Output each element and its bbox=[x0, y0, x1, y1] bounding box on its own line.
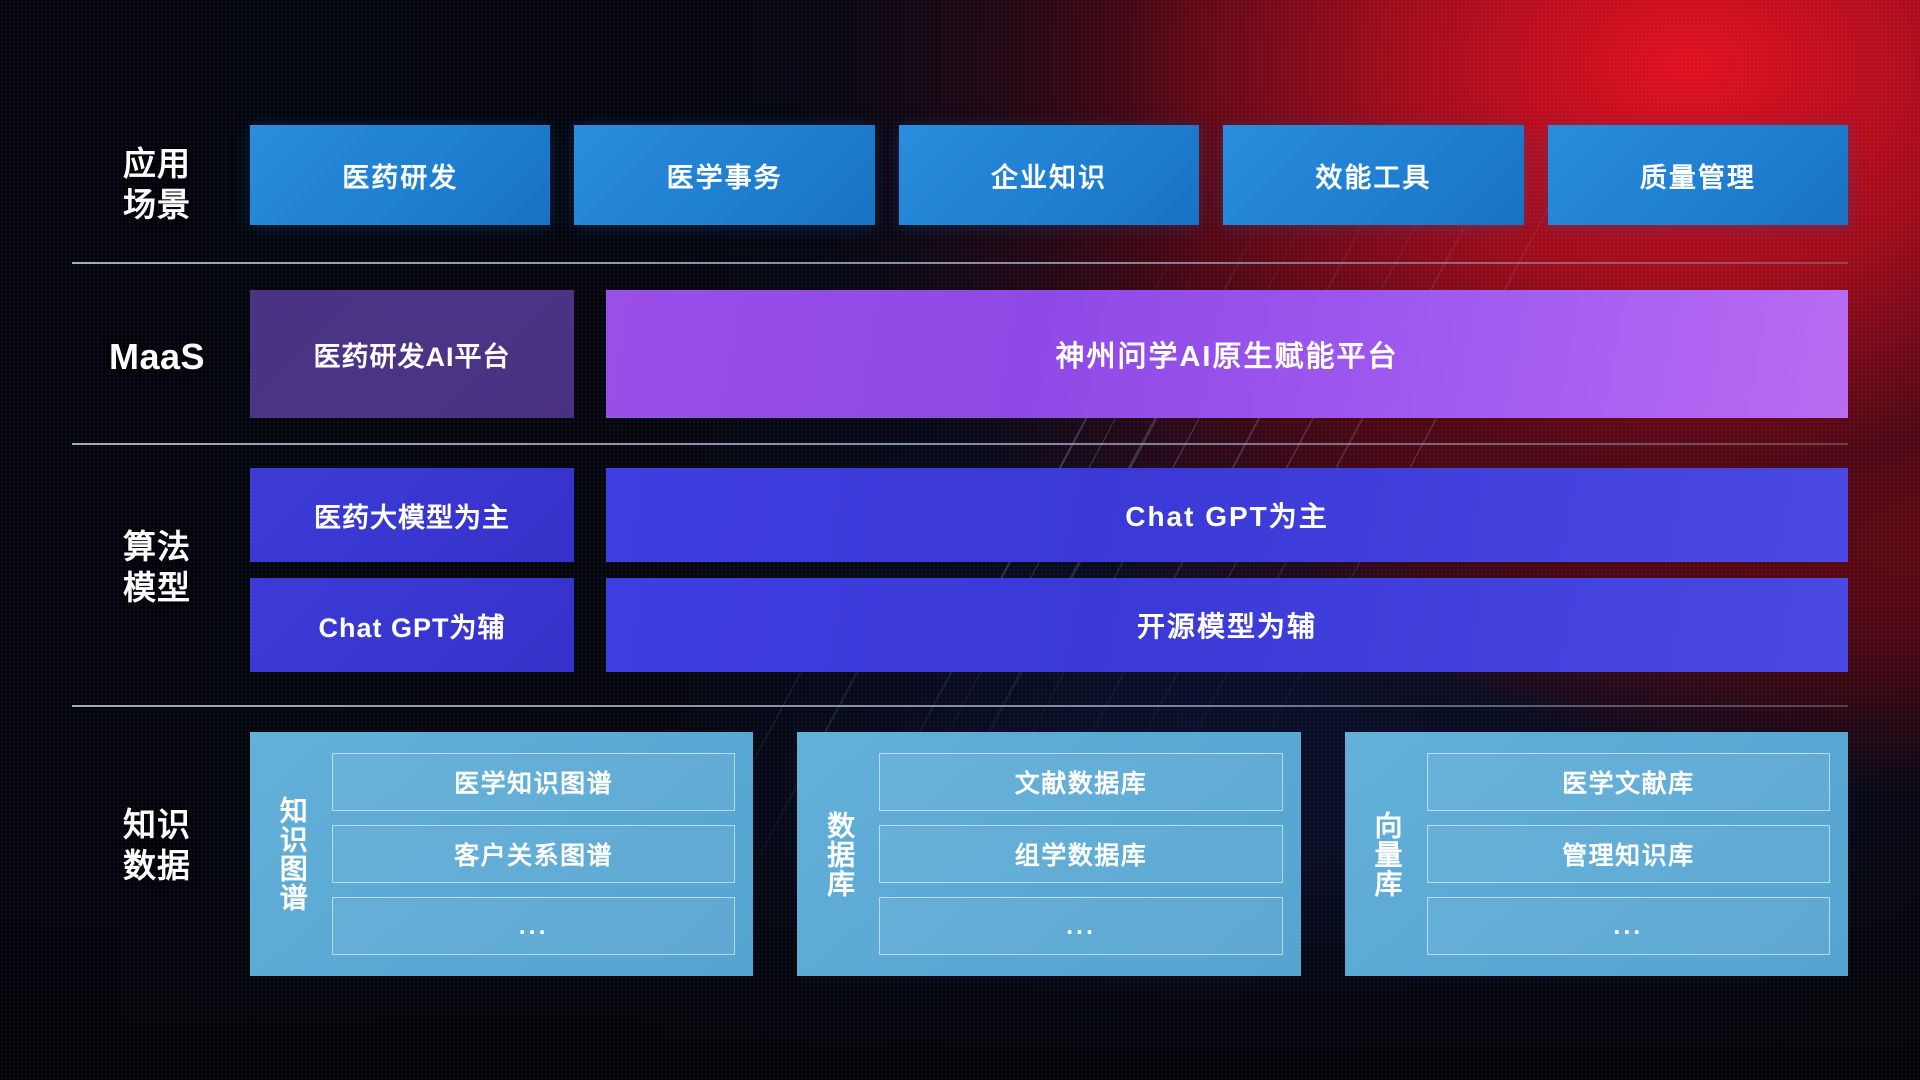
application-row-label: 应用 场景 bbox=[72, 143, 242, 226]
algo-box-chatgpt-primary[interactable]: Chat GPT为主 bbox=[606, 468, 1848, 562]
knowledge-item-medical-literature-lib[interactable]: 医学文献库 bbox=[1427, 753, 1830, 811]
app-box-yixueshiwu[interactable]: 医学事务 bbox=[574, 125, 874, 225]
divider-maas-algorithm bbox=[72, 443, 1848, 445]
knowledge-groups: 知识图谱 医学知识图谱 客户关系图谱 ... 数据库 文献数据库 组学数据库 .… bbox=[250, 732, 1848, 976]
knowledge-item-medical-graph[interactable]: 医学知识图谱 bbox=[332, 753, 735, 811]
knowledge-row-label: 知识 数据 bbox=[72, 804, 242, 887]
app-box-xiaonenggongju[interactable]: 效能工具 bbox=[1223, 125, 1523, 225]
divider-algorithm-knowledge bbox=[72, 705, 1848, 707]
knowledge-item-customer-graph[interactable]: 客户关系图谱 bbox=[332, 825, 735, 883]
algorithm-row-label: 算法 模型 bbox=[72, 526, 242, 609]
knowledge-item-omics-db[interactable]: 组学数据库 bbox=[879, 825, 1282, 883]
algorithm-boxes-line-1: 医药大模型为主 Chat GPT为主 bbox=[250, 468, 1848, 562]
knowledge-group-vector[interactable]: 向量库 医学文献库 管理知识库 ... bbox=[1345, 732, 1848, 976]
algo-box-opensource-secondary[interactable]: 开源模型为辅 bbox=[606, 578, 1848, 672]
knowledge-group-database-items: 文献数据库 组学数据库 ... bbox=[867, 746, 1282, 962]
architecture-diagram: 应用 场景 医药研发 医学事务 企业知识 效能工具 质量管理 MaaS 医药研发… bbox=[0, 0, 1920, 1080]
maas-row-label: MaaS bbox=[72, 334, 242, 379]
knowledge-group-database-title: 数据库 bbox=[811, 746, 867, 962]
algorithm-boxes-line-2: Chat GPT为辅 开源模型为辅 bbox=[250, 578, 1848, 672]
knowledge-group-graph-title: 知识图谱 bbox=[264, 746, 320, 962]
algo-box-chatgpt-secondary[interactable]: Chat GPT为辅 bbox=[250, 578, 574, 672]
app-box-qiyezhishi[interactable]: 企业知识 bbox=[899, 125, 1199, 225]
maas-box-yiyao-ai-platform[interactable]: 医药研发AI平台 bbox=[250, 290, 574, 418]
application-boxes: 医药研发 医学事务 企业知识 效能工具 质量管理 bbox=[250, 125, 1848, 225]
algo-box-yiyao-large-model-primary[interactable]: 医药大模型为主 bbox=[250, 468, 574, 562]
knowledge-item-database-more[interactable]: ... bbox=[879, 897, 1282, 955]
maas-boxes: 医药研发AI平台 神州问学AI原生赋能平台 bbox=[250, 290, 1848, 418]
app-box-zhiliangguanli[interactable]: 质量管理 bbox=[1548, 125, 1848, 225]
knowledge-group-database[interactable]: 数据库 文献数据库 组学数据库 ... bbox=[797, 732, 1300, 976]
divider-application-maas bbox=[72, 262, 1848, 264]
app-box-yiyaoyanfa[interactable]: 医药研发 bbox=[250, 125, 550, 225]
knowledge-item-graph-more[interactable]: ... bbox=[332, 897, 735, 955]
knowledge-group-graph[interactable]: 知识图谱 医学知识图谱 客户关系图谱 ... bbox=[250, 732, 753, 976]
maas-box-shenzhouwenxue-platform[interactable]: 神州问学AI原生赋能平台 bbox=[606, 290, 1848, 418]
knowledge-group-vector-title: 向量库 bbox=[1359, 746, 1415, 962]
slide-canvas: 应用 场景 医药研发 医学事务 企业知识 效能工具 质量管理 MaaS 医药研发… bbox=[0, 0, 1920, 1080]
knowledge-item-literature-db[interactable]: 文献数据库 bbox=[879, 753, 1282, 811]
knowledge-group-vector-items: 医学文献库 管理知识库 ... bbox=[1415, 746, 1830, 962]
knowledge-group-graph-items: 医学知识图谱 客户关系图谱 ... bbox=[320, 746, 735, 962]
knowledge-item-management-knowledge-lib[interactable]: 管理知识库 bbox=[1427, 825, 1830, 883]
knowledge-item-vector-more[interactable]: ... bbox=[1427, 897, 1830, 955]
